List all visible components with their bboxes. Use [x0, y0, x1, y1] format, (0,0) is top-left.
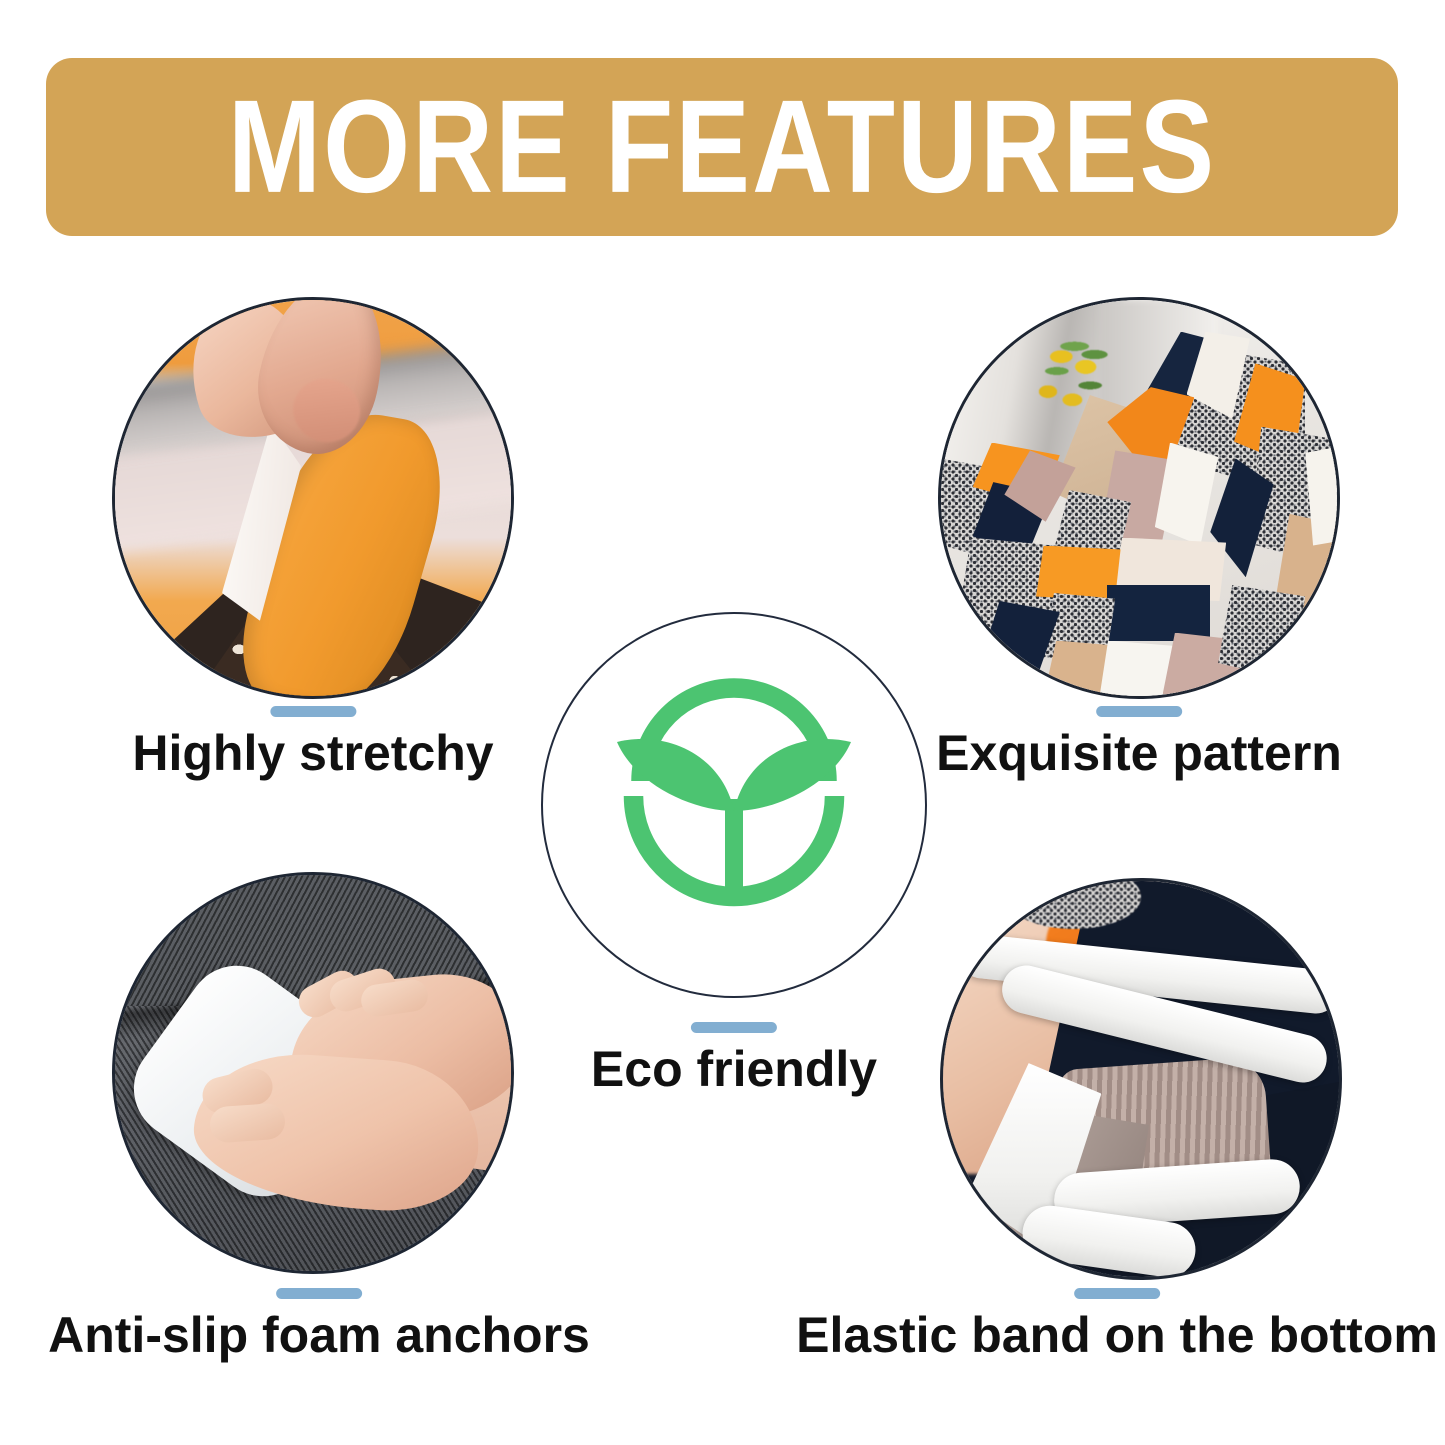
more-features-banner: MORE FEATURES	[46, 58, 1398, 236]
label-dash-exquisite-pattern	[1096, 706, 1182, 717]
finger-5	[209, 1102, 287, 1143]
label-dash-eco-friendly	[691, 1022, 777, 1033]
pattern-photo-content	[941, 300, 1337, 696]
label-exquisite-pattern: Exquisite pattern	[936, 706, 1342, 780]
label-anti-slip-foam-anchors: Anti-slip foam anchors	[48, 1288, 590, 1362]
eco-friendly-badge	[541, 612, 927, 998]
eco-sprout-icon	[584, 655, 884, 955]
label-dash-elastic-band-on-the-bottom	[1074, 1288, 1160, 1299]
banner-title: MORE FEATURES	[228, 81, 1216, 213]
label-eco-friendly: Eco friendly	[591, 1022, 877, 1096]
label-text-anti-slip-foam-anchors: Anti-slip foam anchors	[48, 1309, 590, 1362]
label-text-exquisite-pattern: Exquisite pattern	[936, 727, 1342, 780]
stretchy-photo-content	[115, 300, 511, 696]
feature-image-elastic-band-on-the-bottom	[940, 878, 1342, 1280]
label-elastic-band-on-the-bottom: Elastic band on the bottom	[796, 1288, 1438, 1362]
feature-image-anti-slip-foam-anchors	[112, 872, 514, 1274]
label-text-elastic-band-on-the-bottom: Elastic band on the bottom	[796, 1309, 1438, 1362]
seat-navy-panel	[1107, 585, 1210, 640]
label-dash-anti-slip-foam-anchors	[276, 1288, 362, 1299]
label-dash-highly-stretchy	[270, 706, 356, 717]
label-highly-stretchy: Highly stretchy	[132, 706, 493, 780]
feature-image-highly-stretchy	[112, 297, 514, 699]
seat-speckle-panel-3	[1218, 585, 1305, 680]
elastic-band-photo-content	[943, 881, 1339, 1277]
label-text-eco-friendly: Eco friendly	[591, 1043, 877, 1096]
foam-anchor-photo-content	[115, 875, 511, 1271]
label-text-highly-stretchy: Highly stretchy	[132, 727, 493, 780]
feature-image-exquisite-pattern	[938, 297, 1340, 699]
